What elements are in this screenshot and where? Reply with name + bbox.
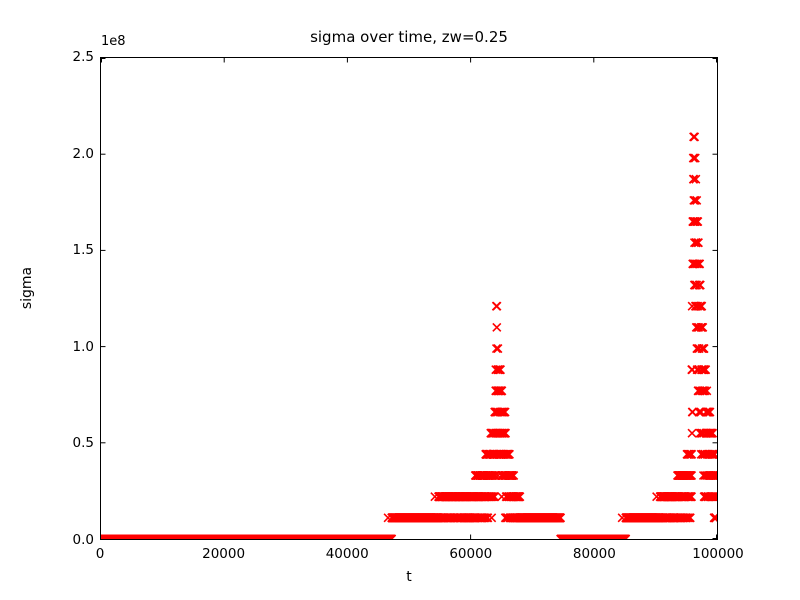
x-tick-label: 100000 xyxy=(692,546,744,562)
x-axis-label: t xyxy=(100,569,718,585)
chart-title: sigma over time, zw=0.25 xyxy=(100,28,718,46)
y-tick-label: 2.0 xyxy=(50,146,94,162)
scatter-data-layer xyxy=(101,58,717,539)
y-tick-label: 1.0 xyxy=(50,339,94,355)
x-tick-label: 40000 xyxy=(326,546,369,562)
x-tick-label: 80000 xyxy=(573,546,616,562)
x-tick-label: 20000 xyxy=(202,546,245,562)
y-axis-offset-label: 1e8 xyxy=(101,34,126,49)
x-tick-label: 60000 xyxy=(449,546,492,562)
y-tick-label: 0.5 xyxy=(50,435,94,451)
x-tick-label: 0 xyxy=(96,546,105,562)
plot-axes-area xyxy=(100,57,718,540)
y-tick-label: 0.0 xyxy=(50,532,94,548)
scatter-markers xyxy=(101,133,717,539)
y-axis-label: sigma xyxy=(19,248,35,328)
matplotlib-figure: sigma over time, zw=0.25 1e8 0.00.51.01.… xyxy=(0,0,800,600)
y-tick-label: 1.5 xyxy=(50,242,94,258)
x-axis-tick-labels: 020000400006000080000100000 xyxy=(100,546,718,566)
y-tick-label: 2.5 xyxy=(50,49,94,65)
y-axis-tick-labels: 0.00.51.01.52.02.5 xyxy=(46,57,94,540)
